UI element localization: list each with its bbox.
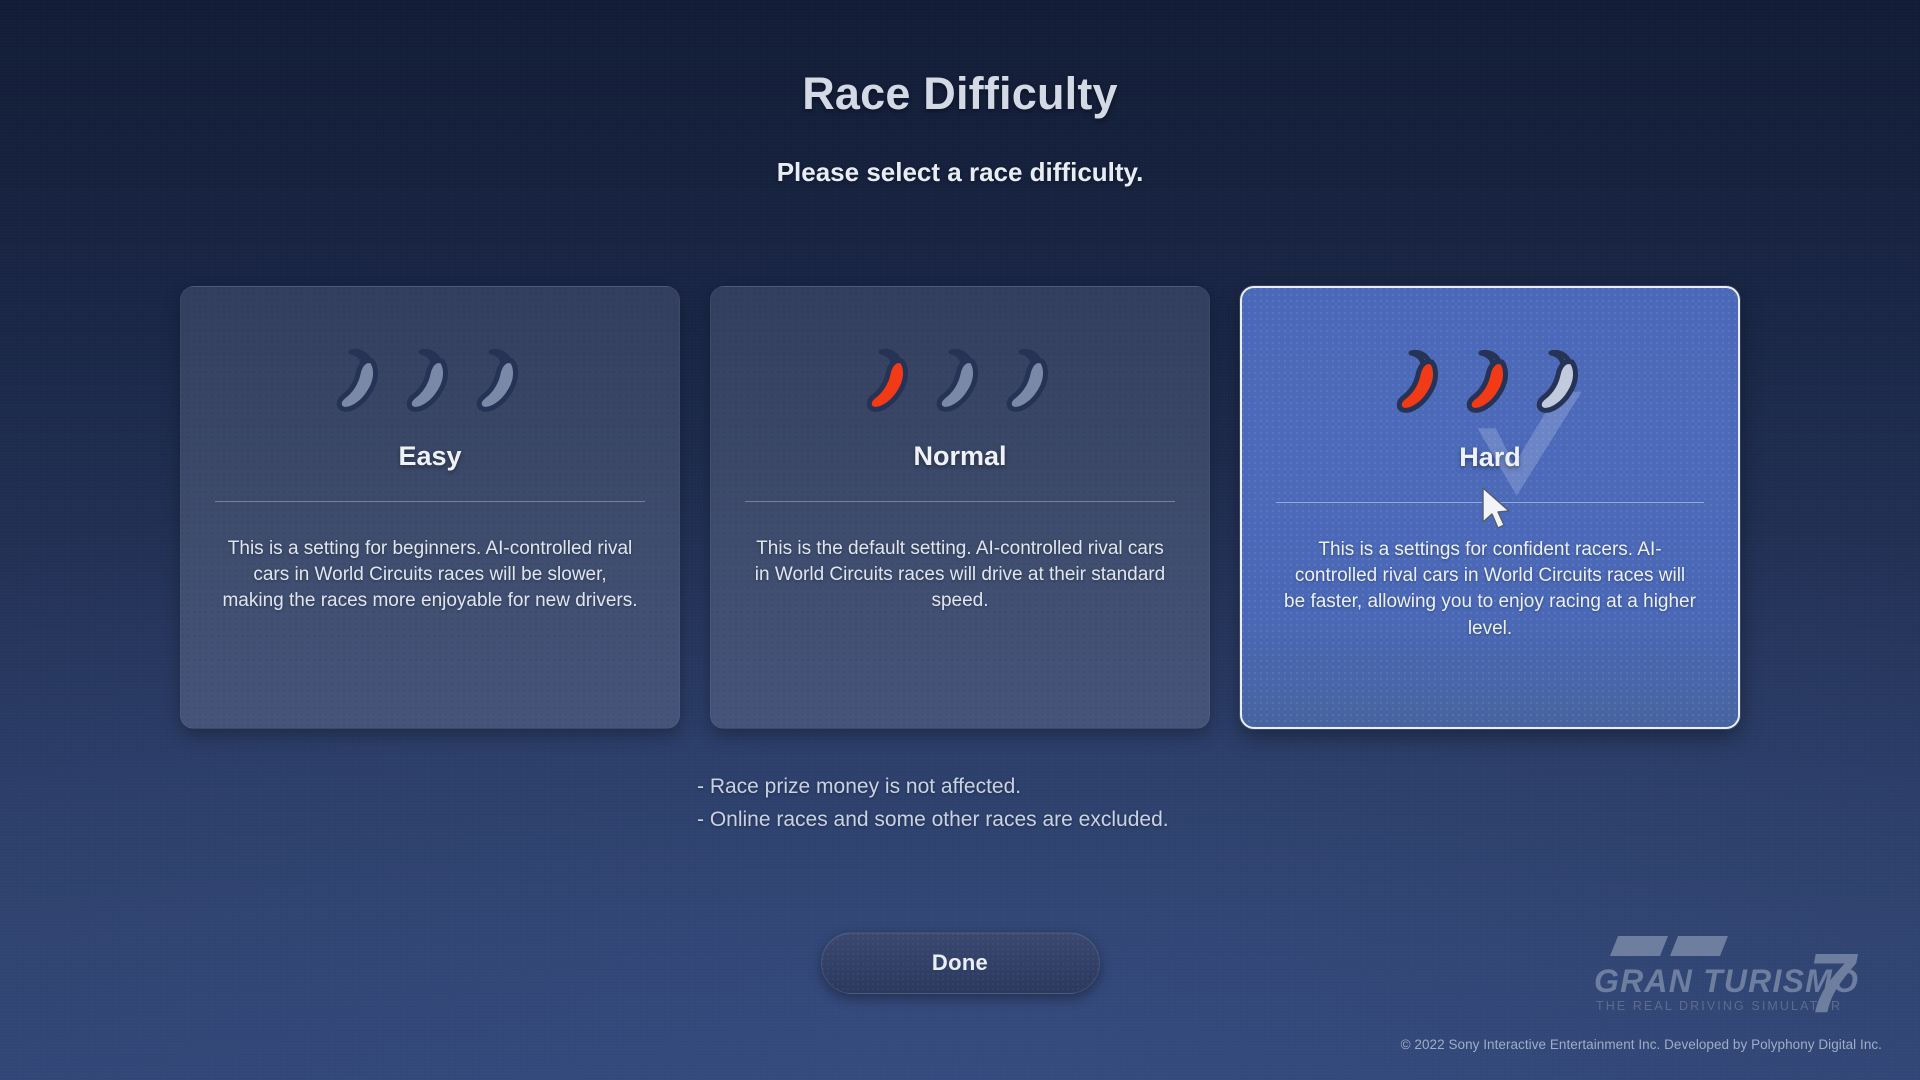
difficulty-card-normal[interactable]: Normal This is the default setting. AI-c… <box>710 286 1210 729</box>
chili-pepper-icon <box>472 343 528 419</box>
chili-pepper-icon-active <box>1462 344 1518 420</box>
mouse-cursor <box>1481 486 1515 532</box>
card-description-hard: This is a settings for confident racers.… <box>1276 537 1704 642</box>
card-title-hard: Hard <box>1276 442 1704 473</box>
pepper-rating-hard <box>1276 342 1704 420</box>
difficulty-card-list: Easy This is a setting for beginners. AI… <box>0 286 1920 729</box>
card-title-easy: Easy <box>215 441 645 472</box>
pepper-rating-easy <box>215 341 645 419</box>
note-item: - Race prize money is not affected. <box>697 775 1021 799</box>
chili-pepper-icon-active <box>1392 344 1448 420</box>
page-title: Race Difficulty <box>0 68 1920 120</box>
copyright-text: © 2022 Sony Interactive Entertainment In… <box>1401 1037 1882 1052</box>
difficulty-card-easy[interactable]: Easy This is a setting for beginners. AI… <box>180 286 680 729</box>
logo-tagline-text: THE REAL DRIVING SIMULATOR <box>1596 999 1842 1013</box>
card-divider <box>745 501 1175 502</box>
page-subtitle: Please select a race difficulty. <box>0 157 1920 188</box>
pepper-rating-normal <box>745 341 1175 419</box>
card-description-easy: This is a setting for beginners. AI-cont… <box>215 536 645 615</box>
chili-pepper-icon <box>1002 343 1058 419</box>
card-description-normal: This is the default setting. AI-controll… <box>745 536 1175 615</box>
logo-number-text: 7 <box>1808 936 1858 1026</box>
chili-pepper-icon <box>932 343 988 419</box>
chili-pepper-icon <box>402 343 458 419</box>
note-item: - Online races and some other races are … <box>697 808 1169 832</box>
done-button[interactable]: Done <box>821 932 1100 994</box>
chili-pepper-icon <box>332 343 388 419</box>
card-title-normal: Normal <box>745 441 1175 472</box>
chili-pepper-icon <box>1532 344 1588 420</box>
card-divider <box>215 501 645 502</box>
done-button-label: Done <box>932 950 988 976</box>
notes-list: - Race prize money is not affected. - On… <box>0 775 1920 832</box>
gran-turismo-logo: GRAN TURISMO THE REAL DRIVING SIMULATOR … <box>1590 934 1880 1026</box>
chili-pepper-icon-active <box>862 343 918 419</box>
